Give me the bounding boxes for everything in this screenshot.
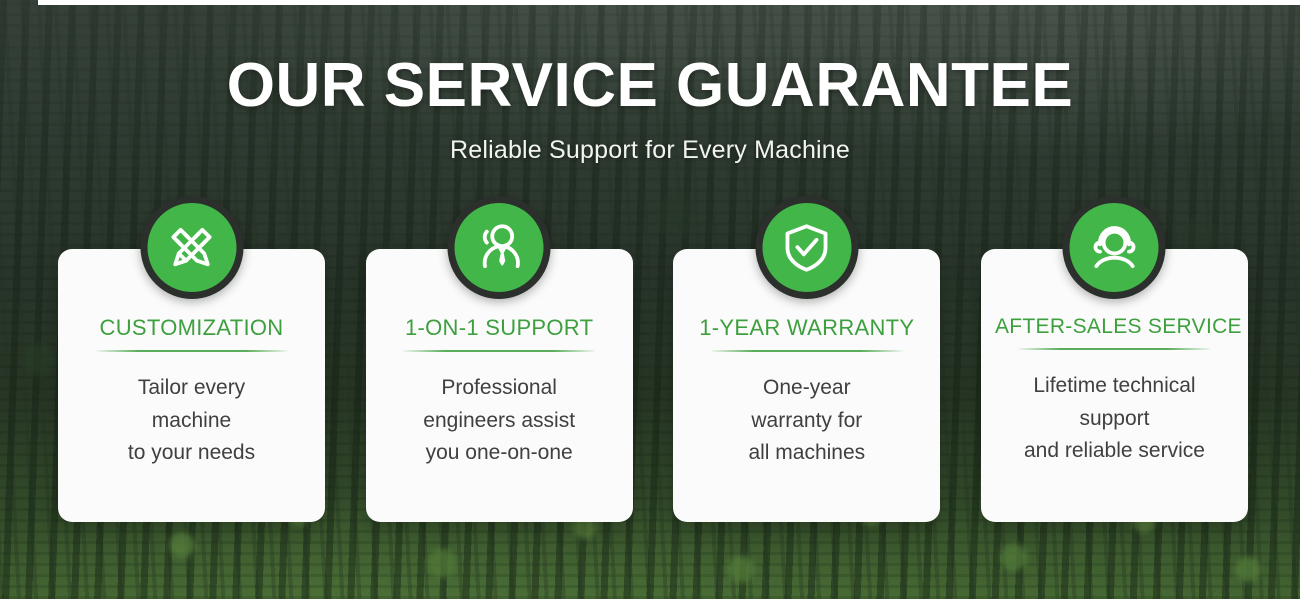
card-divider bbox=[403, 350, 595, 352]
support-agent-person-icon bbox=[470, 219, 528, 277]
feature-card-one-on-one-support[interactable]: 1-ON-1 SUPPORT Professional engineers as… bbox=[366, 249, 633, 522]
card-title: 1-YEAR WARRANTY bbox=[687, 315, 926, 341]
service-guarantee-banner: OUR SERVICE GUARANTEE Reliable Support f… bbox=[0, 0, 1300, 599]
shield-check-icon bbox=[778, 219, 836, 277]
page-subtitle: Reliable Support for Every Machine bbox=[0, 136, 1300, 165]
headset-support-icon bbox=[1085, 219, 1143, 277]
card-title: 1-ON-1 SUPPORT bbox=[380, 315, 619, 341]
pencil-ruler-icon bbox=[163, 219, 221, 277]
badge-one-year-warranty bbox=[755, 196, 858, 299]
card-title: AFTER-SALES SERVICE bbox=[995, 315, 1234, 339]
feature-card-list: CUSTOMIZATION Tailor every machine to yo… bbox=[58, 249, 1248, 522]
card-divider bbox=[711, 350, 903, 352]
feature-card-one-year-warranty[interactable]: 1-YEAR WARRANTY One-year warranty for al… bbox=[673, 249, 940, 522]
card-divider bbox=[96, 350, 288, 352]
card-body: Tailor every machine to your needs bbox=[72, 372, 311, 470]
feature-card-after-sales-service[interactable]: AFTER-SALES SERVICE Lifetime technical s… bbox=[981, 249, 1248, 522]
card-title: CUSTOMIZATION bbox=[72, 315, 311, 341]
page-title: OUR SERVICE GUARANTEE bbox=[0, 55, 1300, 117]
card-divider bbox=[1018, 348, 1210, 350]
badge-customization bbox=[140, 196, 243, 299]
card-body: Professional engineers assist you one-on… bbox=[380, 372, 619, 470]
feature-card-customization[interactable]: CUSTOMIZATION Tailor every machine to yo… bbox=[58, 249, 325, 522]
card-body: Lifetime technical support and reliable … bbox=[995, 370, 1234, 468]
badge-one-on-one-support bbox=[448, 196, 551, 299]
banner-header: OUR SERVICE GUARANTEE Reliable Support f… bbox=[0, 55, 1300, 165]
badge-after-sales-service bbox=[1063, 196, 1166, 299]
card-body: One-year warranty for all machines bbox=[687, 372, 926, 470]
top-white-strip bbox=[38, 0, 1300, 5]
